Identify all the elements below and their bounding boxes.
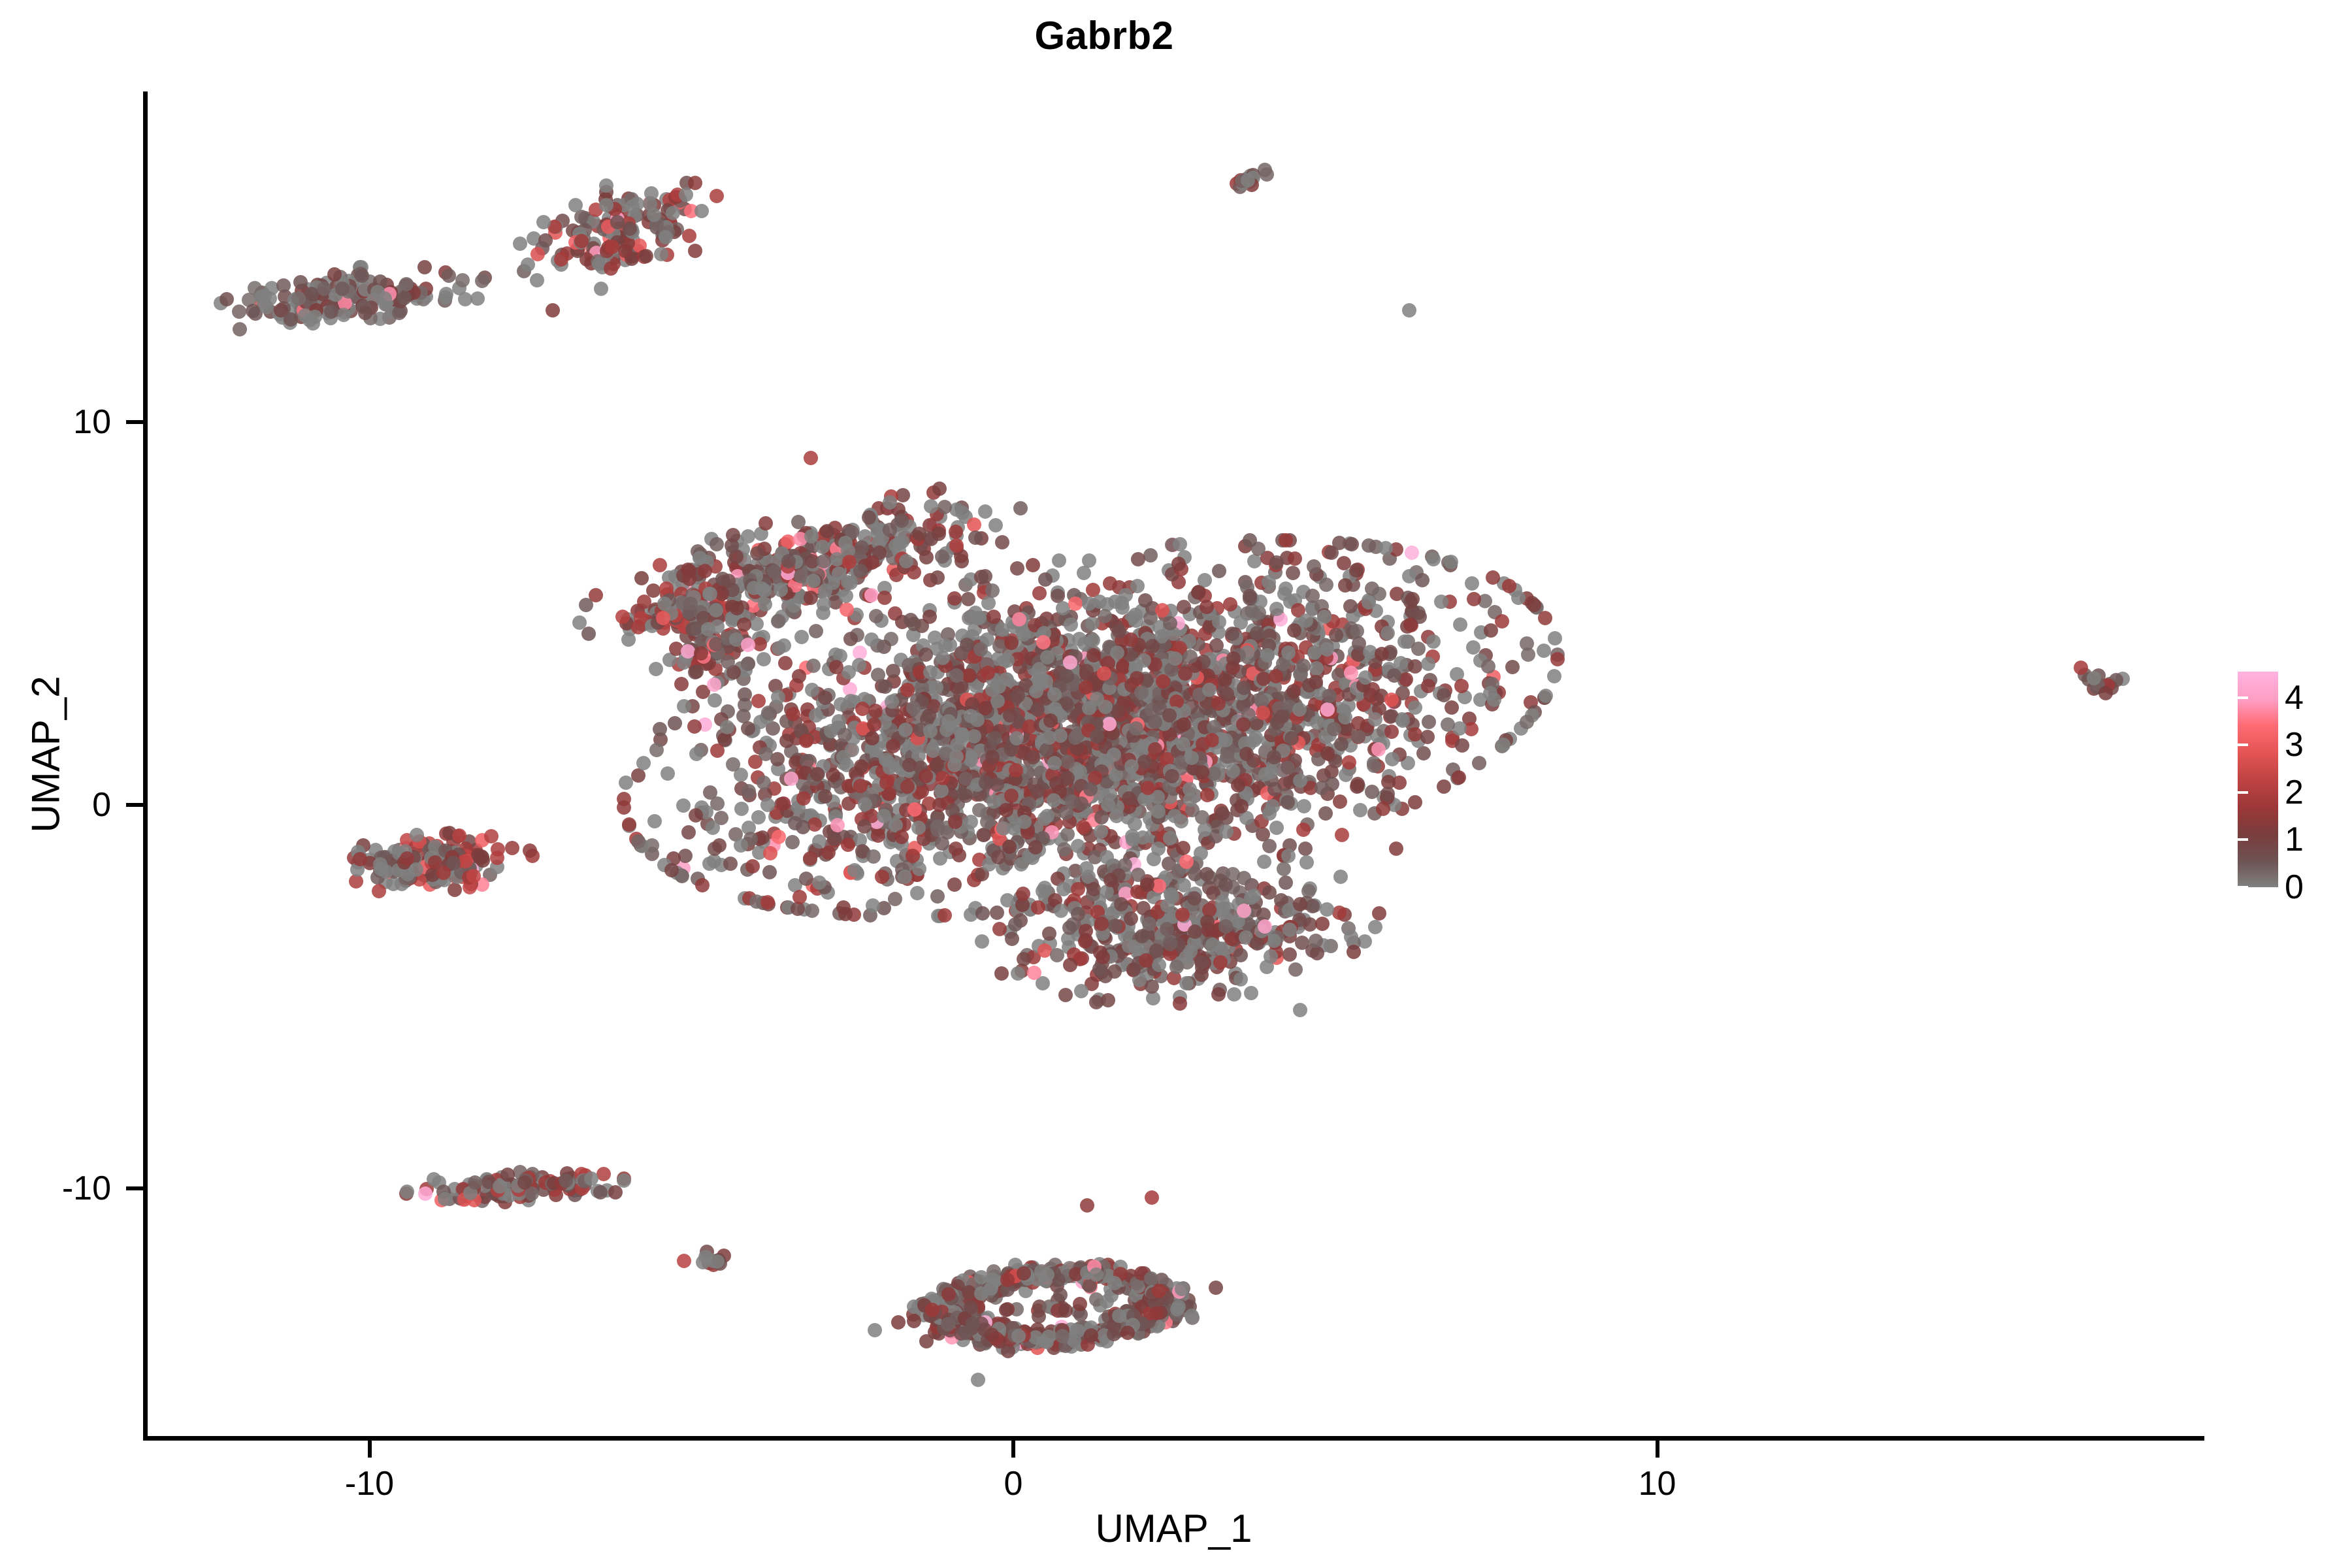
scatter-point xyxy=(647,814,662,828)
scatter-point xyxy=(757,652,771,666)
scatter-point xyxy=(760,798,775,812)
scatter-point xyxy=(634,571,649,585)
scatter-point xyxy=(695,878,710,892)
scatter-point xyxy=(1452,770,1466,785)
scatter-point xyxy=(1550,652,1565,666)
scatter-point xyxy=(1042,926,1056,941)
scatter-point xyxy=(676,798,691,813)
scatter-point xyxy=(594,282,608,296)
scatter-point xyxy=(787,598,801,613)
scatter-point xyxy=(1537,644,1551,658)
scatter-point xyxy=(1094,917,1109,931)
scatter-point xyxy=(1347,945,1361,959)
scatter-point xyxy=(1297,799,1311,813)
scatter-point xyxy=(618,244,632,258)
scatter-point xyxy=(438,1192,452,1206)
scatter-point xyxy=(841,665,856,679)
scatter-point xyxy=(858,797,872,811)
scatter-point xyxy=(1233,948,1248,962)
scatter-point xyxy=(1288,962,1303,977)
scatter-point xyxy=(1047,756,1062,770)
scatter-point xyxy=(988,518,1003,532)
scatter-point xyxy=(745,859,760,874)
scatter-point xyxy=(1179,976,1194,990)
scatter-point xyxy=(1215,806,1230,821)
scatter-point xyxy=(734,802,749,816)
scatter-point xyxy=(1495,614,1509,629)
scatter-point xyxy=(923,724,938,738)
scatter-point xyxy=(792,890,807,904)
scatter-point xyxy=(682,229,696,243)
scatter-point xyxy=(554,252,568,267)
scatter-point xyxy=(996,821,1011,836)
scatter-point xyxy=(1016,887,1030,901)
scatter-point xyxy=(912,862,926,876)
scatter-point xyxy=(1241,173,1255,188)
scatter-point xyxy=(631,768,645,783)
scatter-point xyxy=(1122,791,1136,806)
scatter-point xyxy=(1403,617,1418,632)
scatter-point xyxy=(857,819,872,834)
scatter-point xyxy=(1362,538,1376,553)
scatter-point xyxy=(1267,750,1281,764)
scatter-point xyxy=(794,630,809,644)
scatter-point xyxy=(513,237,527,251)
scatter-point xyxy=(1239,747,1254,761)
scatter-point xyxy=(1212,615,1226,629)
scatter-point xyxy=(967,517,981,532)
scatter-point xyxy=(653,722,667,736)
scatter-point xyxy=(336,308,351,322)
scatter-point xyxy=(721,574,736,588)
scatter-point xyxy=(760,895,775,909)
scatter-point xyxy=(593,1185,608,1200)
scatter-point xyxy=(1143,548,1158,563)
scatter-point xyxy=(751,810,766,825)
scatter-point xyxy=(559,1173,573,1188)
scatter-point xyxy=(1176,737,1190,751)
scatter-point xyxy=(1014,857,1028,872)
scatter-point xyxy=(317,282,331,296)
scatter-point xyxy=(1074,796,1088,811)
scatter-point xyxy=(1017,952,1031,966)
scatter-point xyxy=(907,802,922,817)
scatter-point xyxy=(536,215,551,229)
scatter-point xyxy=(763,846,777,860)
scatter-point xyxy=(1295,936,1309,950)
scatter-point xyxy=(1444,555,1458,569)
scatter-point xyxy=(677,1254,691,1268)
scatter-point xyxy=(681,644,695,659)
scatter-point xyxy=(1293,774,1307,788)
scatter-point xyxy=(1453,617,1467,632)
scatter-point xyxy=(1060,755,1075,769)
scatter-point xyxy=(1050,948,1064,962)
scatter-point xyxy=(990,906,1004,920)
scatter-point xyxy=(1408,795,1422,809)
scatter-point xyxy=(1094,810,1109,825)
scatter-point xyxy=(1353,803,1367,817)
scatter-point xyxy=(1130,579,1145,593)
scatter-point xyxy=(1173,537,1187,551)
scatter-point xyxy=(1086,633,1100,647)
scatter-point xyxy=(1218,673,1232,687)
scatter-point xyxy=(1101,798,1115,812)
scatter-point xyxy=(617,1173,631,1188)
scatter-point xyxy=(1086,648,1101,662)
scatter-point xyxy=(707,678,721,692)
scatter-point xyxy=(1527,598,1541,612)
scatter-point xyxy=(1258,919,1272,934)
scatter-point xyxy=(1402,569,1416,583)
scatter-point xyxy=(678,849,693,863)
scatter-point xyxy=(1047,793,1061,808)
scatter-point xyxy=(1472,756,1486,770)
scatter-point xyxy=(293,275,308,289)
scatter-point xyxy=(621,632,636,647)
scatter-point xyxy=(1068,730,1083,745)
scatter-point xyxy=(933,851,947,866)
scatter-point xyxy=(1060,669,1074,683)
scatter-point xyxy=(418,1186,433,1201)
scatter-point xyxy=(1317,610,1331,624)
scatter-point xyxy=(400,851,414,866)
scatter-point xyxy=(761,706,776,720)
scatter-point xyxy=(530,273,544,287)
scatter-point xyxy=(257,289,272,303)
scatter-point xyxy=(1281,760,1295,775)
scatter-point xyxy=(1026,558,1040,572)
scatter-point xyxy=(1332,906,1347,920)
scatter-point xyxy=(981,666,995,680)
scatter-point xyxy=(623,221,637,236)
scatter-point xyxy=(862,510,876,525)
scatter-point xyxy=(720,720,734,734)
scatter-point xyxy=(1538,611,1552,625)
scatter-point xyxy=(824,724,838,738)
scatter-point xyxy=(741,721,755,736)
scatter-point xyxy=(706,821,720,835)
scatter-point xyxy=(1234,799,1249,813)
scatter-point xyxy=(894,514,909,528)
scatter-point xyxy=(1122,939,1136,953)
scatter-point xyxy=(999,803,1013,817)
scatter-point xyxy=(919,550,934,564)
scatter-point xyxy=(1333,794,1347,809)
scatter-point xyxy=(517,1175,532,1190)
scatter-point xyxy=(1125,829,1139,843)
scatter-point xyxy=(327,267,342,282)
scatter-point xyxy=(475,274,489,288)
scatter-point xyxy=(397,291,412,305)
scatter-point xyxy=(949,841,963,856)
scatter-point xyxy=(1071,907,1085,921)
scatter-point xyxy=(762,865,777,879)
scatter-point xyxy=(810,767,825,781)
scatter-point xyxy=(1237,681,1251,695)
scatter-point xyxy=(1068,596,1083,611)
scatter-point xyxy=(681,825,696,840)
scatter-point xyxy=(898,870,912,884)
scatter-point xyxy=(935,549,949,564)
scatter-point xyxy=(1445,700,1459,715)
scatter-point xyxy=(805,904,819,918)
scatter-point xyxy=(930,889,945,904)
scatter-point xyxy=(1269,669,1283,683)
scatter-point xyxy=(1539,689,1553,703)
scatter-point xyxy=(958,789,973,803)
scatter-point xyxy=(985,583,1000,598)
scatter-point xyxy=(1054,904,1068,918)
scatter-point xyxy=(1076,820,1090,834)
scatter-point xyxy=(1043,713,1058,728)
scatter-point xyxy=(749,617,764,631)
scatter-point xyxy=(1368,920,1382,934)
scatter-point xyxy=(1345,537,1359,551)
scatter-point xyxy=(1339,768,1353,782)
scatter-point xyxy=(948,815,962,829)
scatter-point xyxy=(1202,683,1217,697)
scatter-point xyxy=(1384,693,1399,707)
scatter-point xyxy=(1385,752,1399,766)
x-axis-line xyxy=(143,1436,2204,1441)
scatter-point xyxy=(1307,559,1321,574)
scatter-point xyxy=(1227,987,1241,1002)
scatter-point xyxy=(1324,546,1339,560)
scatter-point xyxy=(879,776,894,790)
scatter-point xyxy=(574,234,589,248)
scatter-point xyxy=(841,838,855,852)
scatter-point xyxy=(776,796,791,811)
scatter-point xyxy=(1260,167,1274,182)
scatter-point xyxy=(1262,575,1276,589)
scatter-point xyxy=(710,743,725,758)
scatter-point xyxy=(1296,823,1311,837)
scatter-point xyxy=(1305,899,1320,913)
scatter-point xyxy=(1004,636,1019,650)
scatter-point xyxy=(741,529,755,544)
scatter-point xyxy=(1089,995,1103,1009)
scatter-point xyxy=(1213,955,1228,970)
scatter-point xyxy=(1250,936,1264,951)
scatter-point xyxy=(427,1172,441,1186)
scatter-point xyxy=(1163,937,1177,951)
scatter-point xyxy=(877,591,892,605)
scatter-point xyxy=(1027,966,1041,980)
scatter-point xyxy=(1368,712,1382,727)
scatter-point xyxy=(737,617,751,632)
scatter-point xyxy=(855,540,869,555)
scatter-point xyxy=(654,247,668,261)
scatter-point xyxy=(771,690,785,704)
scatter-point xyxy=(1257,855,1271,869)
scatter-point xyxy=(911,821,926,835)
scatter-point xyxy=(1173,996,1187,1011)
scatter-point xyxy=(2099,686,2113,700)
scatter-point xyxy=(1200,600,1214,614)
scatter-point xyxy=(1072,632,1086,646)
scatter-point xyxy=(710,537,724,551)
scatter-point xyxy=(843,632,858,646)
scatter-point xyxy=(1175,907,1190,922)
scatter-point xyxy=(694,646,708,661)
scatter-point xyxy=(1098,700,1113,714)
scatter-point xyxy=(955,506,970,520)
scatter-point xyxy=(792,669,806,683)
scatter-point xyxy=(1225,627,1239,641)
scatter-point xyxy=(1151,804,1166,819)
scatter-point xyxy=(455,273,470,287)
scatter-point xyxy=(1408,700,1422,715)
x-tick-label: 0 xyxy=(948,1467,1079,1501)
scatter-point xyxy=(1139,953,1153,968)
scatter-point xyxy=(836,900,851,915)
scatter-point xyxy=(1487,693,1501,707)
scatter-point xyxy=(919,647,933,662)
scatter-point xyxy=(926,743,940,758)
scatter-point xyxy=(666,206,680,220)
scatter-point xyxy=(668,716,682,730)
scatter-point xyxy=(741,638,755,652)
scatter-point xyxy=(1320,642,1334,657)
scatter-point xyxy=(493,1179,507,1194)
scatter-point xyxy=(938,638,953,653)
scatter-point xyxy=(1079,861,1094,875)
scatter-point xyxy=(1426,634,1441,649)
scatter-point xyxy=(659,230,673,244)
scatter-point xyxy=(1183,649,1198,664)
scatter-point xyxy=(1547,669,1561,683)
scatter-point xyxy=(466,869,481,883)
scatter-point xyxy=(1108,919,1122,933)
scatter-point xyxy=(1279,581,1293,596)
scatter-point xyxy=(809,624,823,638)
scatter-point xyxy=(799,734,813,748)
scatter-point xyxy=(910,886,924,900)
scatter-point xyxy=(1310,946,1324,960)
scatter-point xyxy=(579,598,593,612)
scatter-point xyxy=(703,587,717,601)
scatter-point xyxy=(1077,566,1091,580)
scatter-point xyxy=(975,934,989,949)
x-axis-title: UMAP_1 xyxy=(143,1506,2204,1551)
scatter-point xyxy=(1376,802,1390,816)
scatter-point xyxy=(757,776,771,790)
scatter-point xyxy=(816,606,830,620)
scatter-point xyxy=(936,651,950,665)
scatter-point xyxy=(1520,715,1534,729)
scatter-point xyxy=(1275,710,1289,724)
scatter-point xyxy=(1335,828,1349,842)
y-axis-title: UMAP_2 xyxy=(24,604,69,905)
scatter-point xyxy=(1008,917,1022,932)
scatter-point xyxy=(1286,566,1300,580)
scatter-point xyxy=(689,808,703,823)
scatter-point xyxy=(1082,701,1096,715)
scatter-point xyxy=(505,841,519,855)
scatter-point xyxy=(723,857,738,871)
scatter-point xyxy=(291,291,306,306)
scatter-point xyxy=(1309,934,1323,948)
scatter-point xyxy=(1352,636,1366,651)
scatter-point xyxy=(1466,640,1480,655)
scatter-point xyxy=(1034,671,1049,685)
scatter-point xyxy=(883,523,897,537)
scatter-point xyxy=(220,292,234,306)
scatter-point xyxy=(1145,979,1159,994)
scatter-point xyxy=(679,188,693,202)
scatter-point xyxy=(817,554,831,568)
scatter-point xyxy=(1097,666,1111,681)
scatter-point xyxy=(1405,592,1420,606)
scatter-point xyxy=(1060,827,1075,841)
scatter-point xyxy=(702,857,717,871)
scatter-point xyxy=(995,535,1009,549)
scatter-point xyxy=(796,791,811,806)
umap-scatter-plot: Gabrb2 UMAP_2 UMAP_1 -10010-10010 01234 xyxy=(0,0,2352,1568)
scatter-point xyxy=(572,615,587,630)
scatter-point xyxy=(1200,788,1215,802)
scatter-point xyxy=(1281,645,1296,660)
scatter-point xyxy=(1005,932,1019,946)
scatter-point xyxy=(938,500,952,514)
scatter-point xyxy=(523,843,537,858)
scatter-point xyxy=(1421,657,1435,671)
scatter-point xyxy=(1309,675,1323,689)
scatter-point xyxy=(1237,904,1251,918)
scatter-point xyxy=(977,828,991,842)
scatter-point xyxy=(1148,742,1162,757)
scatter-point xyxy=(839,589,853,603)
scatter-point xyxy=(649,743,664,757)
scatter-point xyxy=(932,798,947,812)
x-tick-mark xyxy=(368,1441,372,1458)
scatter-point xyxy=(1269,821,1284,835)
scatter-point xyxy=(1040,809,1054,823)
scatter-point xyxy=(805,683,819,697)
scatter-point xyxy=(1244,986,1258,1000)
scatter-point xyxy=(1320,902,1334,917)
scatter-point xyxy=(1037,881,1052,895)
scatter-point xyxy=(992,922,1007,936)
scatter-point xyxy=(1342,755,1356,770)
scatter-point xyxy=(531,247,545,261)
scatter-point xyxy=(581,627,596,641)
scatter-point xyxy=(771,614,785,629)
scatter-point xyxy=(599,198,613,212)
scatter-point xyxy=(1233,972,1248,987)
scatter-point xyxy=(1074,984,1088,998)
scatter-point xyxy=(1009,731,1024,745)
scatter-point xyxy=(1481,659,1495,674)
scatter-point xyxy=(1379,541,1393,555)
scatter-point xyxy=(804,591,818,605)
scatter-point xyxy=(1333,870,1348,884)
scatter-point xyxy=(1137,755,1152,769)
scatter-point xyxy=(1415,573,1429,587)
scatter-point xyxy=(949,538,964,553)
scatter-point xyxy=(1011,966,1025,981)
scatter-point xyxy=(1256,706,1270,720)
scatter-point xyxy=(806,574,821,588)
scatter-point xyxy=(885,694,899,709)
scatter-point xyxy=(688,244,702,258)
scatter-point xyxy=(741,657,755,671)
scatter-point xyxy=(471,848,485,862)
scatter-point xyxy=(417,260,432,274)
scatter-point xyxy=(1152,958,1166,972)
scatter-point xyxy=(689,747,704,761)
